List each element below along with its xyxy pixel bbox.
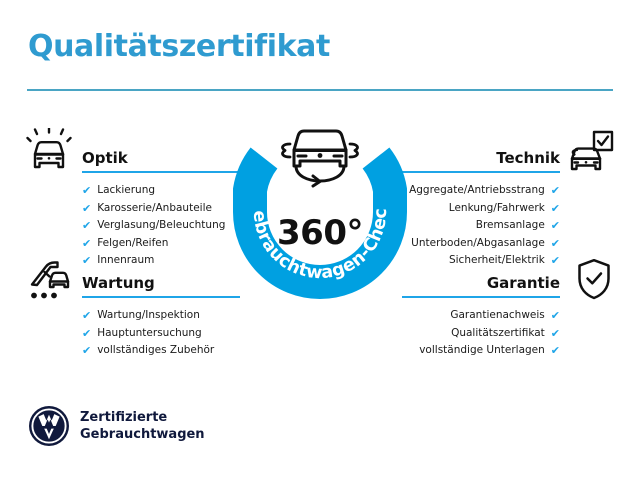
checklist-technik: ✔Aggregate/Antriebsstrang ✔Lenkung/Fahrw… (402, 182, 560, 270)
page-title: Qualitätszertifikat (28, 32, 330, 62)
section-divider (402, 171, 560, 173)
car-checkbox-icon (568, 130, 614, 174)
list-item: ✔Qualitätszertifikat (402, 325, 560, 343)
list-item: ✔vollständige Unterlagen (402, 342, 560, 360)
list-item: ✔Hauptuntersuchung (82, 325, 240, 343)
list-item: ✔Felgen/Reifen (82, 235, 240, 253)
footer-line-1: Zertifizierte (80, 409, 205, 426)
list-item: ✔Verglasung/Beleuchtung (82, 217, 240, 235)
list-item: ✔Sicherheit/Elektrik (402, 252, 560, 270)
check-icon: ✔ (82, 203, 91, 214)
check-icon: ✔ (551, 345, 560, 356)
check-icon: ✔ (551, 328, 560, 339)
list-item: ✔Aggregate/Antriebsstrang (402, 182, 560, 200)
section-header: Optik (82, 143, 240, 169)
list-item-label: Karosserie/Anbauteile (97, 200, 212, 218)
check-icon: ✔ (82, 220, 91, 231)
section-divider (82, 296, 240, 298)
title-divider (27, 89, 613, 91)
car-shine-icon (26, 128, 72, 172)
check-icon: ✔ (82, 185, 91, 196)
list-item: ✔Unterboden/Abgasanlage (402, 235, 560, 253)
list-item: ✔vollständiges Zubehör (82, 342, 240, 360)
check-icon: ✔ (551, 220, 560, 231)
section-optik: Optik ✔Lackierung ✔Karosserie/Anbauteile… (82, 143, 240, 270)
section-title: Optik (82, 151, 128, 166)
list-item-label: Lenkung/Fahrwerk (449, 200, 545, 218)
section-divider (82, 171, 240, 173)
section-title: Technik (496, 151, 560, 166)
section-title: Garantie (487, 276, 560, 291)
list-item: ✔Garantienachweis (402, 307, 560, 325)
section-header: Garantie (402, 268, 560, 294)
list-item-label: Aggregate/Antriebsstrang (409, 182, 545, 200)
section-title: Wartung (82, 276, 155, 291)
list-item-label: Sicherheit/Elektrik (449, 252, 545, 270)
shield-check-icon (576, 258, 612, 300)
list-item-label: Bremsanlage (476, 217, 545, 235)
check-icon: ✔ (551, 203, 560, 214)
check-icon: ✔ (82, 255, 91, 266)
check-icon: ✔ (82, 345, 91, 356)
check-icon: ✔ (82, 238, 91, 249)
badge-360-gebrauchtwagen-check: Gebrauchtwagen-Check 360° (226, 118, 414, 306)
section-header: Technik (402, 143, 560, 169)
section-header: Wartung (82, 268, 240, 294)
list-item: ✔Bremsanlage (402, 217, 560, 235)
wrench-car-icon (26, 258, 72, 302)
footer-line-2: Gebrauchtwagen (80, 426, 205, 443)
list-item-label: Felgen/Reifen (97, 235, 168, 253)
list-item: ✔Innenraum (82, 252, 240, 270)
check-icon: ✔ (551, 238, 560, 249)
check-icon: ✔ (551, 255, 560, 266)
checklist-optik: ✔Lackierung ✔Karosserie/Anbauteile ✔Verg… (82, 182, 240, 270)
list-item: ✔Karosserie/Anbauteile (82, 200, 240, 218)
list-item-label: Garantienachweis (450, 307, 544, 325)
checklist-wartung: ✔Wartung/Inspektion ✔Hauptuntersuchung ✔… (82, 307, 240, 360)
list-item: ✔Wartung/Inspektion (82, 307, 240, 325)
list-item-label: Wartung/Inspektion (97, 307, 200, 325)
checklist-garantie: ✔Garantienachweis ✔Qualitätszertifikat ✔… (402, 307, 560, 360)
list-item: ✔Lackierung (82, 182, 240, 200)
list-item-label: Hauptuntersuchung (97, 325, 202, 343)
vw-logo-icon (28, 405, 70, 447)
car-front-rotate-icon (272, 114, 368, 188)
section-garantie: Garantie ✔Garantienachweis ✔Qualitätszer… (402, 268, 560, 360)
list-item-label: vollständige Unterlagen (419, 342, 545, 360)
list-item-label: Innenraum (97, 252, 154, 270)
check-icon: ✔ (82, 328, 91, 339)
section-divider (402, 296, 560, 298)
list-item: ✔Lenkung/Fahrwerk (402, 200, 560, 218)
section-technik: Technik ✔Aggregate/Antriebsstrang ✔Lenku… (402, 143, 560, 270)
check-icon: ✔ (82, 310, 91, 321)
list-item-label: Qualitätszertifikat (451, 325, 545, 343)
list-item-label: vollständiges Zubehör (97, 342, 214, 360)
badge-center-label: 360° (226, 216, 414, 250)
list-item-label: Lackierung (97, 182, 155, 200)
section-wartung: Wartung ✔Wartung/Inspektion ✔Hauptunters… (82, 268, 240, 360)
list-item-label: Unterboden/Abgasanlage (411, 235, 545, 253)
footer-lockup-text: Zertifizierte Gebrauchtwagen (80, 409, 205, 443)
list-item-label: Verglasung/Beleuchtung (97, 217, 225, 235)
check-icon: ✔ (551, 185, 560, 196)
check-icon: ✔ (551, 310, 560, 321)
